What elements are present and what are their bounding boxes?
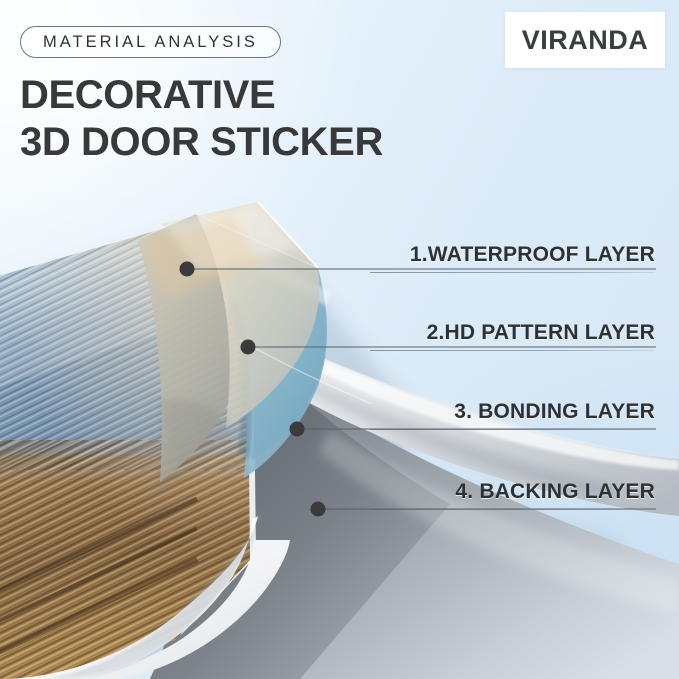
layer-1-waterproof <box>138 202 319 502</box>
leader-dot-4 <box>311 502 326 517</box>
leader-dot-3 <box>290 422 305 437</box>
layer-separation-edges <box>196 202 372 404</box>
layer-2-hd-pattern <box>196 214 330 478</box>
callout-label-2: 2.HD PATTERN LAYER <box>370 322 655 343</box>
callout-hd-pattern-layer: 2.HD PATTERN LAYER <box>370 322 655 351</box>
callout-waterproof-layer: 1.WATERPROOF LAYER <box>370 244 655 273</box>
leader-lines <box>187 269 656 509</box>
eyebrow-label: MATERIAL ANALYSIS <box>43 33 258 52</box>
callout-rule-1 <box>370 272 655 273</box>
callout-bonding-layer: 3. BONDING LAYER <box>370 401 655 430</box>
callout-label-3: 3. BONDING LAYER <box>370 401 655 422</box>
print-sheet-white-edge <box>8 512 290 679</box>
callout-rule-3 <box>370 429 655 430</box>
poster-canvas: MATERIAL ANALYSIS VIRANDA DECORATIVE 3D … <box>0 0 679 679</box>
callout-rule-2 <box>370 350 655 351</box>
eyebrow-badge: MATERIAL ANALYSIS <box>20 26 281 58</box>
callout-label-1: 1.WATERPROOF LAYER <box>370 244 655 265</box>
title-line-2: 3D DOOR STICKER <box>20 119 490 166</box>
title-line-1: DECORATIVE <box>20 72 490 119</box>
callout-rule-4 <box>370 509 655 510</box>
callout-label-4: 4. BACKING LAYER <box>370 481 655 502</box>
printed-photo-sheet <box>0 180 340 679</box>
brand-name: VIRANDA <box>522 25 649 56</box>
artwork-shadow <box>0 212 640 679</box>
page-title: DECORATIVE 3D DOOR STICKER <box>20 72 490 166</box>
leader-dot-1 <box>180 262 195 277</box>
brand-logo-panel: VIRANDA <box>505 12 665 68</box>
leader-dot-2 <box>241 340 256 355</box>
callout-backing-layer: 4. BACKING LAYER <box>370 481 655 510</box>
leader-dots <box>180 262 326 517</box>
